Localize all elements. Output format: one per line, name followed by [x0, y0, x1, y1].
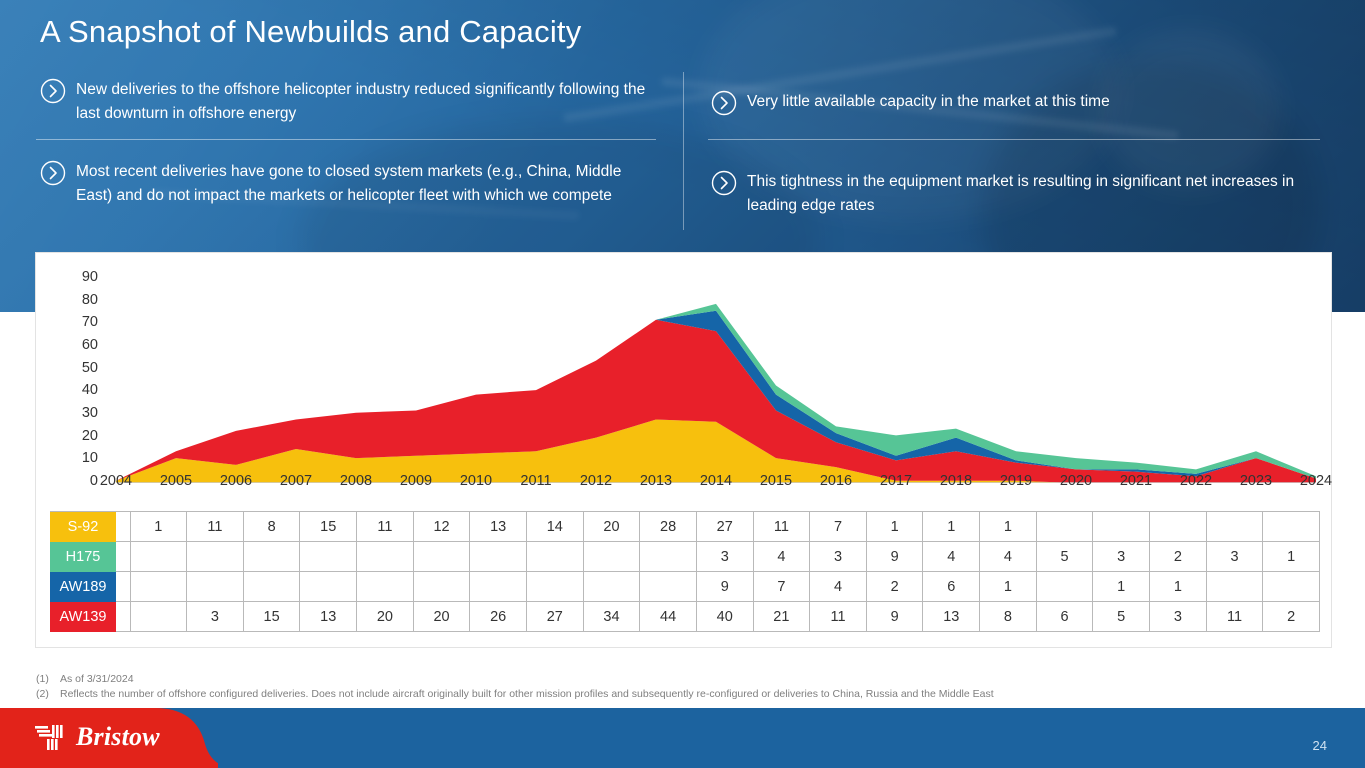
- table-cell-aw189-2007: [300, 572, 357, 602]
- footnote-1-number: (1): [36, 672, 60, 687]
- x-axis-tick-2021: 2021: [1108, 473, 1164, 489]
- x-axis-tick-2022: 2022: [1168, 473, 1224, 489]
- table-cell-aw139-2020: 6: [1036, 602, 1093, 632]
- table-cell-h175-2014: 3: [696, 542, 753, 572]
- table-cell-aw189-2009: [413, 572, 470, 602]
- table-cell-aw189-2019: 1: [980, 572, 1037, 602]
- table-row: H17534394453231: [50, 542, 1320, 572]
- table-cell-s-92-2018: 1: [923, 512, 980, 542]
- x-axis-tick-2007: 2007: [268, 473, 324, 489]
- table-cell-s-92-2019: 1: [980, 512, 1037, 542]
- table-cell-s-92-2024: [1263, 512, 1320, 542]
- x-axis-tick-2018: 2018: [928, 473, 984, 489]
- table-cell-h175-2004: [130, 542, 187, 572]
- table-cell-aw139-2008: 20: [357, 602, 414, 632]
- x-axis-tick-2024: 2024: [1288, 473, 1344, 489]
- x-axis-tick-2016: 2016: [808, 473, 864, 489]
- table-cell-aw189-2022: 1: [1150, 572, 1207, 602]
- table-cell-aw189-2015: 7: [753, 572, 810, 602]
- x-axis-tick-2005: 2005: [148, 473, 204, 489]
- table-cell-h175-2021: 3: [1093, 542, 1150, 572]
- table-cell-h175-2008: [357, 542, 414, 572]
- table-cell-s-92-2022: [1150, 512, 1207, 542]
- table-cell-h175-2024: 1: [1263, 542, 1320, 572]
- footnote-2-text: Reflects the number of offshore configur…: [60, 687, 994, 702]
- bristow-logo: Bristow: [34, 722, 160, 752]
- x-axis-tick-2015: 2015: [748, 473, 804, 489]
- table-gutter-cell: [116, 542, 130, 572]
- deliveries-data-table: S-9211181511121314202827117111H175343944…: [50, 511, 1320, 632]
- table-cell-h175-2018: 4: [923, 542, 980, 572]
- footnote-2-number: (2): [36, 687, 60, 702]
- chart-and-table-panel: 0102030405060708090 20042005200620072008…: [35, 252, 1332, 648]
- table-cell-h175-2017: 9: [866, 542, 923, 572]
- table-row: AW18997426111: [50, 572, 1320, 602]
- table-cell-aw189-2004: [130, 572, 187, 602]
- y-axis-tick-90: 90: [62, 269, 98, 285]
- table-cell-aw189-2008: [357, 572, 414, 602]
- table-cell-h175-2019: 4: [980, 542, 1037, 572]
- x-axis-tick-2012: 2012: [568, 473, 624, 489]
- table-cell-h175-2010: [470, 542, 527, 572]
- table-cell-aw189-2021: 1: [1093, 572, 1150, 602]
- table-cell-aw189-2014: 9: [696, 572, 753, 602]
- footnote-1: (1) As of 3/31/2024: [36, 672, 994, 687]
- y-axis-tick-40: 40: [62, 382, 98, 398]
- table-cell-h175-2011: [526, 542, 583, 572]
- table-cell-h175-2013: [640, 542, 697, 572]
- table-row: S-9211181511121314202827117111: [50, 512, 1320, 542]
- footnote-1-text: As of 3/31/2024: [60, 672, 134, 687]
- table-cell-s-92-2017: 1: [866, 512, 923, 542]
- table-cell-aw189-2010: [470, 572, 527, 602]
- table-cell-aw139-2013: 44: [640, 602, 697, 632]
- x-axis-tick-2017: 2017: [868, 473, 924, 489]
- y-axis-tick-10: 10: [62, 450, 98, 466]
- table-row: AW139315132020262734444021119138653112: [50, 602, 1320, 632]
- table-cell-s-92-2006: 8: [243, 512, 300, 542]
- table-cell-aw139-2021: 5: [1093, 602, 1150, 632]
- table-cell-aw189-2024: [1263, 572, 1320, 602]
- chevron-right-circle-icon: [40, 78, 66, 104]
- table-cell-aw139-2014: 40: [696, 602, 753, 632]
- table-cell-s-92-2023: [1206, 512, 1263, 542]
- table-cell-aw139-2018: 13: [923, 602, 980, 632]
- table-cell-h175-2012: [583, 542, 640, 572]
- table-cell-s-92-2009: 12: [413, 512, 470, 542]
- table-gutter-cell: [116, 572, 130, 602]
- table-cell-aw189-2018: 6: [923, 572, 980, 602]
- bullet-right-1-text: Very little available capacity in the ma…: [747, 90, 1110, 114]
- chevron-right-circle-icon: [711, 170, 737, 196]
- x-axis-tick-2014: 2014: [688, 473, 744, 489]
- table-cell-aw189-2016: 4: [810, 572, 867, 602]
- table-cell-aw189-2013: [640, 572, 697, 602]
- x-axis-tick-2023: 2023: [1228, 473, 1284, 489]
- table-cell-s-92-2008: 11: [357, 512, 414, 542]
- table-cell-aw139-2022: 3: [1150, 602, 1207, 632]
- x-axis-tick-2013: 2013: [628, 473, 684, 489]
- table-cell-s-92-2010: 13: [470, 512, 527, 542]
- table-cell-h175-2009: [413, 542, 470, 572]
- table-cell-s-92-2011: 14: [526, 512, 583, 542]
- chevron-right-circle-icon: [711, 90, 737, 116]
- page-number: 24: [1313, 738, 1327, 753]
- table-cell-h175-2022: 2: [1150, 542, 1207, 572]
- table-cell-h175-2006: [243, 542, 300, 572]
- table-cell-s-92-2005: 11: [187, 512, 244, 542]
- footnote-2: (2) Reflects the number of offshore conf…: [36, 687, 994, 702]
- x-axis-tick-2004: 2004: [88, 473, 144, 489]
- table-cell-h175-2023: 3: [1206, 542, 1263, 572]
- table-row-label-aw189: AW189: [50, 572, 116, 602]
- bullet-divider-right: [708, 139, 1320, 140]
- table-cell-aw139-2005: 3: [187, 602, 244, 632]
- table-cell-s-92-2015: 11: [753, 512, 810, 542]
- table-cell-aw139-2007: 13: [300, 602, 357, 632]
- table-cell-h175-2007: [300, 542, 357, 572]
- table-cell-s-92-2021: [1093, 512, 1150, 542]
- bullet-right-2: This tightness in the equipment market i…: [711, 170, 1326, 218]
- bullet-left-2: Most recent deliveries have gone to clos…: [40, 160, 660, 208]
- bullet-left-1: New deliveries to the offshore helicopte…: [40, 78, 650, 126]
- bullet-left-1-text: New deliveries to the offshore helicopte…: [76, 78, 650, 126]
- table: S-9211181511121314202827117111H175343944…: [50, 511, 1320, 632]
- table-cell-aw189-2006: [243, 572, 300, 602]
- bullet-divider-left: [36, 139, 656, 140]
- y-axis-tick-60: 60: [62, 337, 98, 353]
- table-cell-aw139-2023: 11: [1206, 602, 1263, 632]
- table-gutter-cell: [116, 512, 130, 542]
- table-cell-s-92-2014: 27: [696, 512, 753, 542]
- x-axis-tick-2011: 2011: [508, 473, 564, 489]
- table-cell-aw189-2017: 2: [866, 572, 923, 602]
- bullet-right-2-text: This tightness in the equipment market i…: [747, 170, 1326, 218]
- x-axis-tick-2020: 2020: [1048, 473, 1104, 489]
- table-cell-aw139-2019: 8: [980, 602, 1037, 632]
- table-row-label-h175: H175: [50, 542, 116, 572]
- table-cell-aw139-2006: 15: [243, 602, 300, 632]
- table-cell-aw139-2012: 34: [583, 602, 640, 632]
- table-gutter-cell: [116, 602, 130, 632]
- table-cell-aw139-2015: 21: [753, 602, 810, 632]
- table-cell-aw139-2024: 2: [1263, 602, 1320, 632]
- x-axis-tick-2010: 2010: [448, 473, 504, 489]
- x-axis-tick-2009: 2009: [388, 473, 444, 489]
- table-row-label-aw139: AW139: [50, 602, 116, 632]
- table-cell-aw189-2012: [583, 572, 640, 602]
- footnotes: (1) As of 3/31/2024 (2) Reflects the num…: [36, 672, 994, 702]
- chevron-right-circle-icon: [40, 160, 66, 186]
- table-cell-aw139-2017: 9: [866, 602, 923, 632]
- x-axis-tick-2019: 2019: [988, 473, 1044, 489]
- table-cell-aw139-2011: 27: [526, 602, 583, 632]
- bullet-right-1: Very little available capacity in the ma…: [711, 90, 1321, 116]
- page-title: A Snapshot of Newbuilds and Capacity: [40, 14, 581, 50]
- y-axis-tick-80: 80: [62, 292, 98, 308]
- bristow-pinwheel-icon: [34, 722, 68, 752]
- table-cell-aw189-2011: [526, 572, 583, 602]
- table-cell-h175-2016: 3: [810, 542, 867, 572]
- table-cell-s-92-2016: 7: [810, 512, 867, 542]
- y-axis-tick-50: 50: [62, 360, 98, 376]
- chart-series-svg: [116, 279, 1316, 483]
- table-cell-aw189-2005: [187, 572, 244, 602]
- bristow-wordmark: Bristow: [76, 722, 160, 752]
- table-cell-s-92-2012: 20: [583, 512, 640, 542]
- y-axis-tick-30: 30: [62, 405, 98, 421]
- table-cell-aw189-2020: [1036, 572, 1093, 602]
- table-cell-aw139-2010: 26: [470, 602, 527, 632]
- column-divider: [683, 72, 684, 230]
- x-axis-tick-2006: 2006: [208, 473, 264, 489]
- table-cell-aw139-2009: 20: [413, 602, 470, 632]
- table-cell-s-92-2007: 15: [300, 512, 357, 542]
- y-axis-tick-20: 20: [62, 428, 98, 444]
- table-cell-s-92-2013: 28: [640, 512, 697, 542]
- chart-y-axis: 0102030405060708090: [58, 279, 98, 489]
- y-axis-tick-70: 70: [62, 314, 98, 330]
- table-cell-aw139-2004: [130, 602, 187, 632]
- chart-x-axis: 2004200520062007200820092010201120122013…: [116, 469, 1316, 497]
- table-cell-s-92-2020: [1036, 512, 1093, 542]
- table-cell-aw189-2023: [1206, 572, 1263, 602]
- bullet-left-2-text: Most recent deliveries have gone to clos…: [76, 160, 660, 208]
- table-cell-s-92-2004: 1: [130, 512, 187, 542]
- table-cell-aw139-2016: 11: [810, 602, 867, 632]
- table-row-label-s-92: S-92: [50, 512, 116, 542]
- table-cell-h175-2020: 5: [1036, 542, 1093, 572]
- chart-plot-area: [116, 279, 1316, 483]
- table-cell-h175-2015: 4: [753, 542, 810, 572]
- deliveries-area-chart: 0102030405060708090 20042005200620072008…: [36, 253, 1333, 501]
- slide-footer-bar: Bristow 24: [0, 708, 1365, 768]
- x-axis-tick-2008: 2008: [328, 473, 384, 489]
- table-cell-h175-2005: [187, 542, 244, 572]
